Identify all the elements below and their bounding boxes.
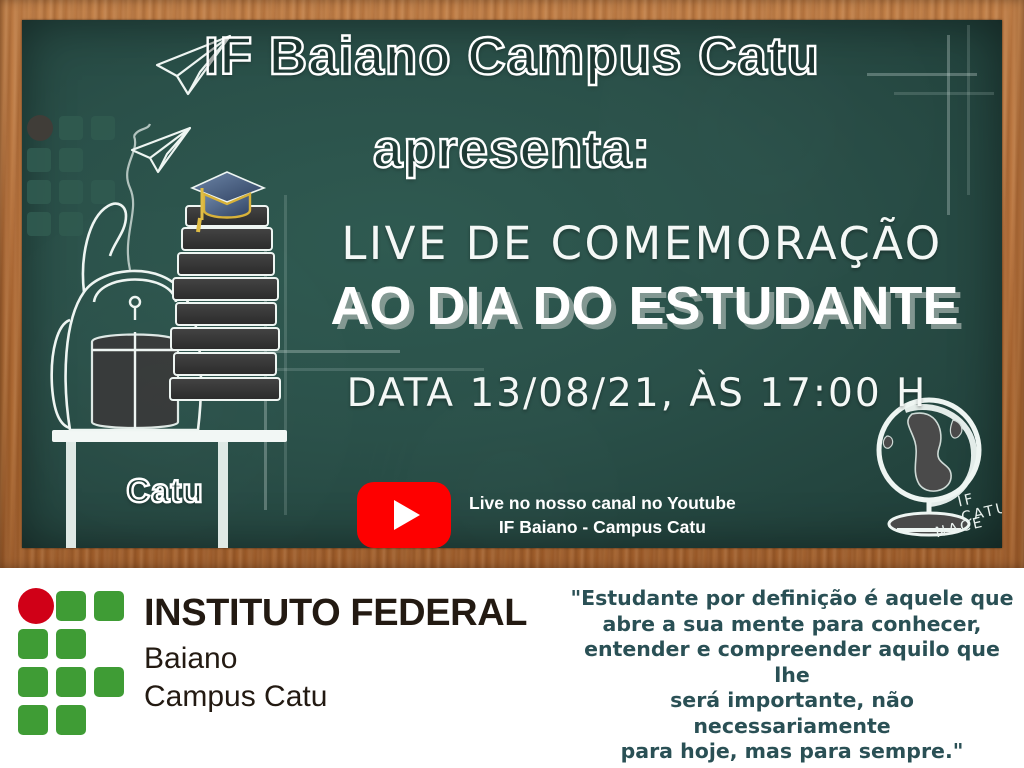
quote-line-3: entender e compreender aquilo que lhe xyxy=(570,637,1014,688)
youtube-play-icon[interactable] xyxy=(357,482,451,548)
logo-cell xyxy=(18,667,48,697)
quote-line-5: para hoje, mas para sempre." xyxy=(570,739,1014,765)
instituto-federal-logo xyxy=(18,588,136,736)
logo-cell xyxy=(56,667,86,697)
logo-cell xyxy=(94,667,124,697)
youtube-line2: IF Baiano - Campus Catu xyxy=(469,515,736,539)
quote-line-1: "Estudante por definição é aquele que xyxy=(570,586,1014,612)
event-poster: IF Baiano Campus Catu apresenta: LIVE DE… xyxy=(0,0,1024,768)
youtube-channel-text: Live no nosso canal no Youtube IF Baiano… xyxy=(469,491,736,539)
page-title-line1: IF Baiano Campus Catu xyxy=(22,25,1002,89)
globe-labels: IF CATU NACE xyxy=(867,392,1002,548)
quote-block: "Estudante por definição é aquele que ab… xyxy=(570,586,1014,768)
chalkboard-wooden-frame: IF Baiano Campus Catu apresenta: LIVE DE… xyxy=(0,0,1024,568)
event-subtitle: LIVE DE COMEMORAÇÃO xyxy=(282,218,1002,270)
book-stack-icon xyxy=(170,206,280,400)
page-title-line2: apresenta: xyxy=(22,118,1002,182)
logo-cell xyxy=(18,629,48,659)
logo-cell xyxy=(56,591,86,621)
footer-bar: INSTITUTO FEDERAL Baiano Campus Catu "Es… xyxy=(0,568,1024,768)
logo-cell xyxy=(18,705,48,735)
institute-sub1: Baiano xyxy=(144,640,527,678)
globe-label-nace: NACE xyxy=(934,515,986,542)
youtube-line1: Live no nosso canal no Youtube xyxy=(469,491,736,515)
institute-title: INSTITUTO FEDERAL xyxy=(144,592,527,634)
logo-red-dot xyxy=(18,588,54,624)
chalkboard-surface: IF Baiano Campus Catu apresenta: LIVE DE… xyxy=(22,20,1002,548)
quote-line-2: abre a sua mente para conhecer, xyxy=(570,612,1014,638)
institute-sub2: Campus Catu xyxy=(144,678,527,716)
logo-cell xyxy=(56,705,86,735)
catu-label: Catu xyxy=(90,472,240,510)
event-main-title: AO DIA DO ESTUDANTE xyxy=(272,275,1002,337)
quote-line-4: será importante, não necessariamente xyxy=(570,688,1014,739)
youtube-channel-block[interactable]: Live no nosso canal no Youtube IF Baiano… xyxy=(357,482,736,548)
logo-cell xyxy=(56,629,86,659)
institute-wordmark: INSTITUTO FEDERAL Baiano Campus Catu xyxy=(144,592,527,716)
play-triangle-icon xyxy=(394,500,420,530)
logo-cell xyxy=(94,591,124,621)
